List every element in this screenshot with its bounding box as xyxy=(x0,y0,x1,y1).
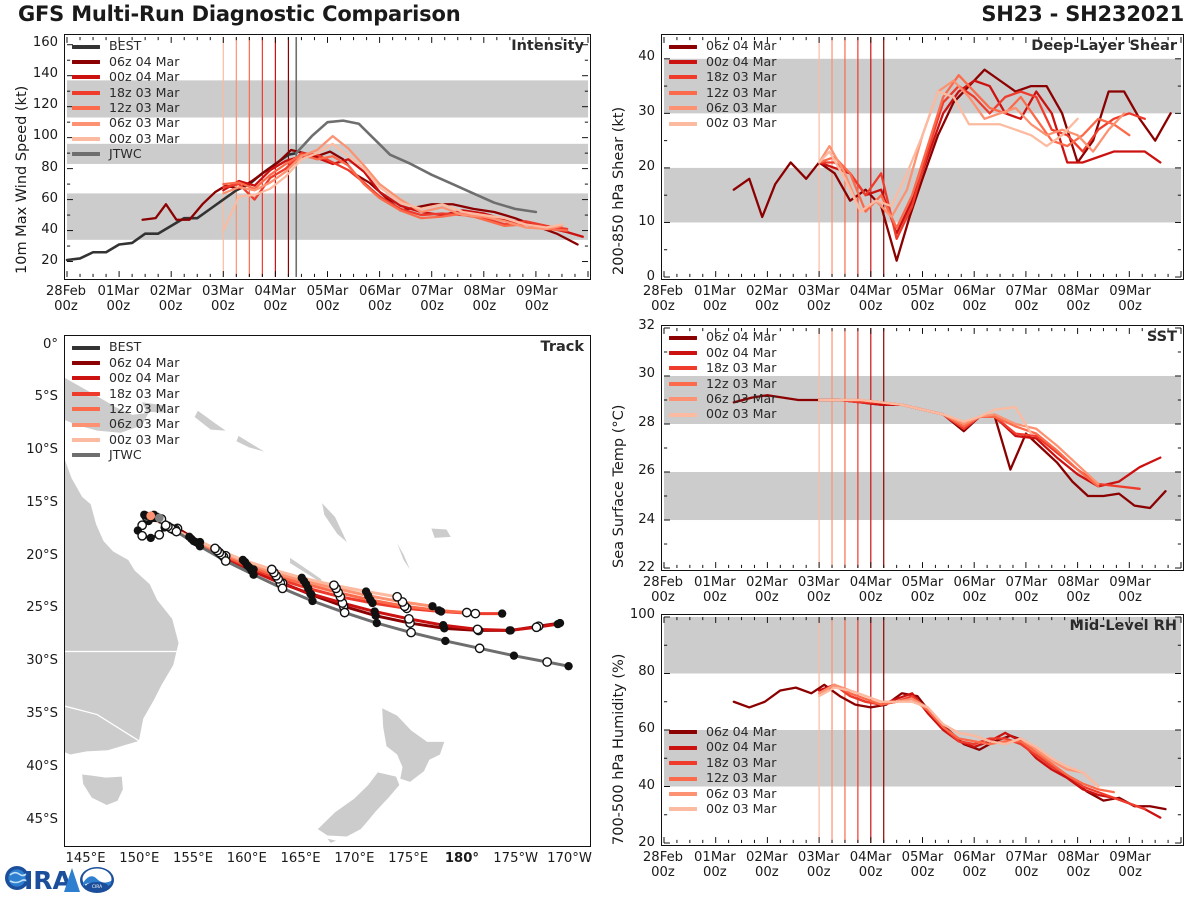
legend-swatch-icon xyxy=(72,361,100,365)
shear-y-axis-label: 200-850 hPa Shear (kt) xyxy=(611,107,627,275)
legend-entry: 12z 03 Mar xyxy=(72,402,179,417)
legend-label: 06z 03 Mar xyxy=(109,117,179,130)
y-tick-label: 0 xyxy=(611,269,655,284)
track-marker-open xyxy=(340,608,348,616)
legend-entry: 12z 03 Mar xyxy=(669,771,776,786)
track-marker-open xyxy=(162,521,170,529)
y-tick-label: 20 xyxy=(611,835,655,850)
track-marker-filled xyxy=(498,609,506,617)
lat-tick-label: 15°S xyxy=(4,495,58,510)
track-marker-open xyxy=(155,531,163,539)
track-marker-filled xyxy=(147,534,155,542)
legend-label: 00z 03 Mar xyxy=(109,434,179,447)
legend-entry: 00z 04 Mar xyxy=(72,371,179,386)
lat-tick-label: 45°S xyxy=(4,812,58,827)
jtwc-position-marker xyxy=(155,514,164,523)
track-marker-filled xyxy=(196,542,204,550)
legend-swatch-icon xyxy=(72,45,100,49)
legend-swatch-icon xyxy=(72,346,100,350)
legend-swatch-icon xyxy=(72,376,100,380)
rh-legend: 06z 04 Mar00z 04 Mar18z 03 Mar12z 03 Mar… xyxy=(669,725,776,817)
legend-swatch-icon xyxy=(72,152,100,156)
legend-swatch-icon xyxy=(72,106,100,110)
legend-entry: 18z 03 Mar xyxy=(669,70,776,85)
y-tick-label: 20 xyxy=(611,159,655,174)
legend-entry: 00z 03 Mar xyxy=(72,432,179,447)
track-marker-open xyxy=(330,581,338,589)
legend-label: JTWC xyxy=(109,449,142,462)
y-tick-label: 28 xyxy=(611,415,655,430)
track-marker-open xyxy=(471,609,479,617)
lat-tick-label: 30°S xyxy=(4,653,58,668)
legend-label: 18z 03 Mar xyxy=(706,71,776,84)
legend-swatch-icon xyxy=(72,137,100,141)
landmass xyxy=(431,528,450,537)
legend-label: 00z 03 Mar xyxy=(706,117,776,130)
panel-deep-layer-shear[interactable]: Deep-Layer Shear 06z 04 Mar00z 04 Mar18z… xyxy=(661,34,1184,280)
legend-swatch-icon xyxy=(669,336,697,340)
legend-swatch-icon xyxy=(72,75,100,79)
legend-entry: 00z 03 Mar xyxy=(669,802,776,817)
track-marker-open xyxy=(543,658,551,666)
legend-swatch-icon xyxy=(72,407,100,411)
legend-swatch-icon xyxy=(669,807,697,811)
panel-sst[interactable]: SST 06z 04 Mar00z 04 Mar18z 03 Mar12z 03… xyxy=(661,325,1184,571)
y-tick-label: 140 xyxy=(14,66,58,81)
legend-swatch-icon xyxy=(72,423,100,427)
legend-label: 06z 04 Mar xyxy=(706,331,776,344)
track-marker-filled xyxy=(239,556,247,564)
legend-label: 00z 04 Mar xyxy=(109,372,179,385)
legend-swatch-icon xyxy=(669,122,697,126)
legend-entry: 06z 03 Mar xyxy=(669,101,776,116)
track-marker-filled xyxy=(249,571,257,579)
legend-swatch-icon xyxy=(669,60,697,64)
legend-swatch-icon xyxy=(669,351,697,355)
legend-swatch-icon xyxy=(669,777,697,781)
legend-entry: 00z 03 Mar xyxy=(669,116,776,131)
track-legend: BEST06z 04 Mar00z 04 Mar18z 03 Mar12z 03… xyxy=(72,340,179,463)
legend-entry: 12z 03 Mar xyxy=(669,376,776,391)
shear-panel-title: Deep-Layer Shear xyxy=(1031,38,1177,54)
track-marker-open xyxy=(138,532,146,540)
legend-label: 06z 03 Mar xyxy=(706,393,776,406)
legend-entry: BEST xyxy=(72,39,179,54)
landmass xyxy=(318,772,399,836)
legend-label: 00z 03 Mar xyxy=(109,133,179,146)
track-marker-filled xyxy=(373,619,381,627)
legend-label: 00z 03 Mar xyxy=(706,803,776,816)
legend-swatch-icon xyxy=(669,413,697,417)
legend-entry: 00z 04 Mar xyxy=(72,70,179,85)
legend-label: 06z 03 Mar xyxy=(706,788,776,801)
y-tick-label: 30 xyxy=(611,104,655,119)
legend-swatch-icon xyxy=(669,45,697,49)
legend-entry: JTWC xyxy=(72,147,179,162)
track-marker-open xyxy=(463,608,471,616)
legend-label: JTWC xyxy=(109,148,142,161)
landmass xyxy=(236,436,264,452)
svg-text:CIRA: CIRA xyxy=(92,884,102,890)
shear-legend: 06z 04 Mar00z 04 Mar18z 03 Mar12z 03 Mar… xyxy=(669,39,776,131)
legend-label: 06z 03 Mar xyxy=(109,418,179,431)
legend-entry: 18z 03 Mar xyxy=(72,386,179,401)
y-tick-label: 100 xyxy=(14,128,58,143)
legend-swatch-icon xyxy=(669,746,697,750)
y-tick-label: 60 xyxy=(611,721,655,736)
legend-entry: 06z 04 Mar xyxy=(669,330,776,345)
legend-label: 06z 04 Mar xyxy=(706,40,776,53)
y-tick-label: 20 xyxy=(14,253,58,268)
rh-panel-title: Mid-Level RH xyxy=(1070,618,1177,634)
track-marker-open xyxy=(222,557,230,565)
legend-label: 06z 04 Mar xyxy=(706,726,776,739)
track-marker-open xyxy=(268,565,276,573)
legend-entry: 12z 03 Mar xyxy=(72,101,179,116)
lat-tick-label: 20°S xyxy=(4,548,58,563)
track-marker-open xyxy=(278,584,286,592)
legend-entry: 18z 03 Mar xyxy=(72,85,179,100)
legend-label: BEST xyxy=(109,40,141,53)
y-tick-label: 160 xyxy=(14,35,58,50)
legend-entry: 00z 03 Mar xyxy=(72,131,179,146)
y-tick-label: 80 xyxy=(14,160,58,175)
y-tick-label: 60 xyxy=(14,191,58,206)
legend-swatch-icon xyxy=(72,122,100,126)
lat-tick-label: 5°S xyxy=(4,389,58,404)
legend-label: 12z 03 Mar xyxy=(706,772,776,785)
rh-y-axis-label: 700-500 hPa Humidity (%) xyxy=(611,654,627,845)
track-marker-open xyxy=(407,628,415,636)
lat-tick-label: 40°S xyxy=(4,759,58,774)
track-marker-filled xyxy=(510,651,518,659)
legend-label: 18z 03 Mar xyxy=(109,388,179,401)
track-marker-filled xyxy=(185,533,193,541)
legend-label: 06z 04 Mar xyxy=(109,56,179,69)
y-tick-label: 22 xyxy=(611,560,655,575)
lat-tick-label: 35°S xyxy=(4,706,58,721)
legend-entry: 06z 04 Mar xyxy=(72,54,179,69)
panel-intensity[interactable]: Intensity BEST06z 04 Mar00z 04 Mar18z 03… xyxy=(64,34,591,280)
sst-legend: 06z 04 Mar00z 04 Mar18z 03 Mar12z 03 Mar… xyxy=(669,330,776,422)
track-marker-filled xyxy=(564,662,572,670)
track-marker-open xyxy=(405,615,413,623)
legend-swatch-icon xyxy=(72,60,100,64)
legend-label: 00z 04 Mar xyxy=(109,71,179,84)
legend-entry: 06z 03 Mar xyxy=(72,116,179,131)
y-tick-label: 40 xyxy=(611,778,655,793)
legend-swatch-icon xyxy=(72,453,100,457)
legend-entry: 06z 03 Mar xyxy=(669,392,776,407)
track-marker-filled xyxy=(298,574,306,582)
intensity-y-axis-label: 10m Max Wind Speed (kt) xyxy=(14,86,30,274)
legend-swatch-icon xyxy=(669,382,697,386)
track-marker-open xyxy=(475,644,483,652)
x-tick-label: 09Mar00z xyxy=(1095,850,1165,880)
sst-panel-title: SST xyxy=(1147,329,1177,345)
legend-entry: 06z 04 Mar xyxy=(72,355,179,370)
panel-track[interactable]: Track BEST06z 04 Mar00z 04 Mar18z 03 Mar… xyxy=(64,335,591,847)
legend-entry: 18z 03 Mar xyxy=(669,755,776,770)
track-panel-title: Track xyxy=(541,339,584,355)
legend-swatch-icon xyxy=(669,761,697,765)
x-tick-label: 09Mar00z xyxy=(1095,284,1165,314)
lat-tick-label: 0° xyxy=(4,337,58,352)
legend-label: 12z 03 Mar xyxy=(706,87,776,100)
y-tick-label: 80 xyxy=(611,664,655,679)
landmass xyxy=(322,503,347,542)
panel-mid-level-rh[interactable]: Mid-Level RH 06z 04 Mar00z 04 Mar18z 03 … xyxy=(661,614,1184,846)
x-tick-label: 09Mar00z xyxy=(1095,575,1165,605)
legend-entry: 12z 03 Mar xyxy=(669,85,776,100)
cira-logo-graphic: IRA CIRA xyxy=(4,856,116,898)
legend-swatch-icon xyxy=(669,91,697,95)
landmass xyxy=(82,774,123,804)
legend-label: 06z 04 Mar xyxy=(109,357,179,370)
legend-label: 00z 04 Mar xyxy=(706,347,776,360)
track-marker-filled xyxy=(441,637,449,645)
landmass xyxy=(397,543,410,569)
track-line xyxy=(144,515,397,597)
legend-label: 12z 03 Mar xyxy=(109,403,179,416)
y-tick-label: 10 xyxy=(611,214,655,229)
track-marker-open xyxy=(473,625,481,633)
track-marker-filled xyxy=(370,607,378,615)
page-title: GFS Multi-Run Diagnostic Comparison xyxy=(18,2,460,26)
legend-entry: JTWC xyxy=(72,448,179,463)
track-marker-open xyxy=(211,544,219,552)
legend-entry: 06z 04 Mar xyxy=(669,39,776,54)
legend-swatch-icon xyxy=(72,392,100,396)
x-tick-label: 09Mar00z xyxy=(502,284,572,314)
intensity-panel-title: Intensity xyxy=(511,38,584,54)
y-tick-label: 100 xyxy=(611,607,655,622)
legend-label: BEST xyxy=(109,341,141,354)
y-tick-label: 40 xyxy=(611,49,655,64)
legend-entry: BEST xyxy=(72,340,179,355)
track-marker-open xyxy=(532,623,540,631)
track-marker-filled xyxy=(554,620,562,628)
legend-label: 00z 04 Mar xyxy=(706,56,776,69)
legend-swatch-icon xyxy=(72,438,100,442)
lat-tick-label: 10°S xyxy=(4,442,58,457)
y-tick-label: 30 xyxy=(611,366,655,381)
legend-label: 18z 03 Mar xyxy=(706,757,776,770)
legend-swatch-icon xyxy=(669,397,697,401)
legend-swatch-icon xyxy=(669,106,697,110)
legend-swatch-icon xyxy=(669,75,697,79)
legend-label: 00z 03 Mar xyxy=(706,408,776,421)
track-marker-filled xyxy=(439,621,447,629)
track-marker-filled xyxy=(308,597,316,605)
legend-entry: 06z 03 Mar xyxy=(72,417,179,432)
legend-label: 12z 03 Mar xyxy=(109,102,179,115)
storm-identifier: SH23 - SH232021 xyxy=(981,2,1184,26)
track-marker-open xyxy=(393,593,401,601)
legend-swatch-icon xyxy=(72,91,100,95)
y-tick-label: 40 xyxy=(14,222,58,237)
cira-logo: IRA CIRA xyxy=(4,856,116,898)
legend-label: 18z 03 Mar xyxy=(109,87,179,100)
landmass xyxy=(195,411,226,431)
lat-tick-label: 25°S xyxy=(4,600,58,615)
landmass xyxy=(382,708,444,782)
legend-entry: 00z 04 Mar xyxy=(669,740,776,755)
legend-label: 18z 03 Mar xyxy=(706,362,776,375)
legend-swatch-icon xyxy=(669,730,697,734)
y-tick-label: 120 xyxy=(14,97,58,112)
legend-swatch-icon xyxy=(669,366,697,370)
legend-entry: 00z 04 Mar xyxy=(669,345,776,360)
current-position-marker xyxy=(146,511,155,520)
track-marker-filled xyxy=(362,587,370,595)
legend-entry: 18z 03 Mar xyxy=(669,361,776,376)
track-marker-filled xyxy=(428,602,436,610)
legend-entry: 06z 04 Mar xyxy=(669,725,776,740)
legend-label: 00z 04 Mar xyxy=(706,741,776,754)
legend-label: 12z 03 Mar xyxy=(706,378,776,391)
lon-tick-label: 170°W xyxy=(536,851,602,866)
y-tick-label: 24 xyxy=(611,512,655,527)
intensity-legend: BEST06z 04 Mar00z 04 Mar18z 03 Mar12z 03… xyxy=(72,39,179,162)
legend-swatch-icon xyxy=(669,792,697,796)
legend-entry: 00z 03 Mar xyxy=(669,407,776,422)
landmass xyxy=(328,839,337,843)
y-tick-label: 26 xyxy=(611,463,655,478)
track-marker-open xyxy=(172,527,180,535)
y-tick-label: 32 xyxy=(611,318,655,333)
legend-label: 06z 03 Mar xyxy=(706,102,776,115)
legend-entry: 06z 03 Mar xyxy=(669,786,776,801)
track-marker-filled xyxy=(505,626,513,634)
legend-entry: 00z 04 Mar xyxy=(669,54,776,69)
